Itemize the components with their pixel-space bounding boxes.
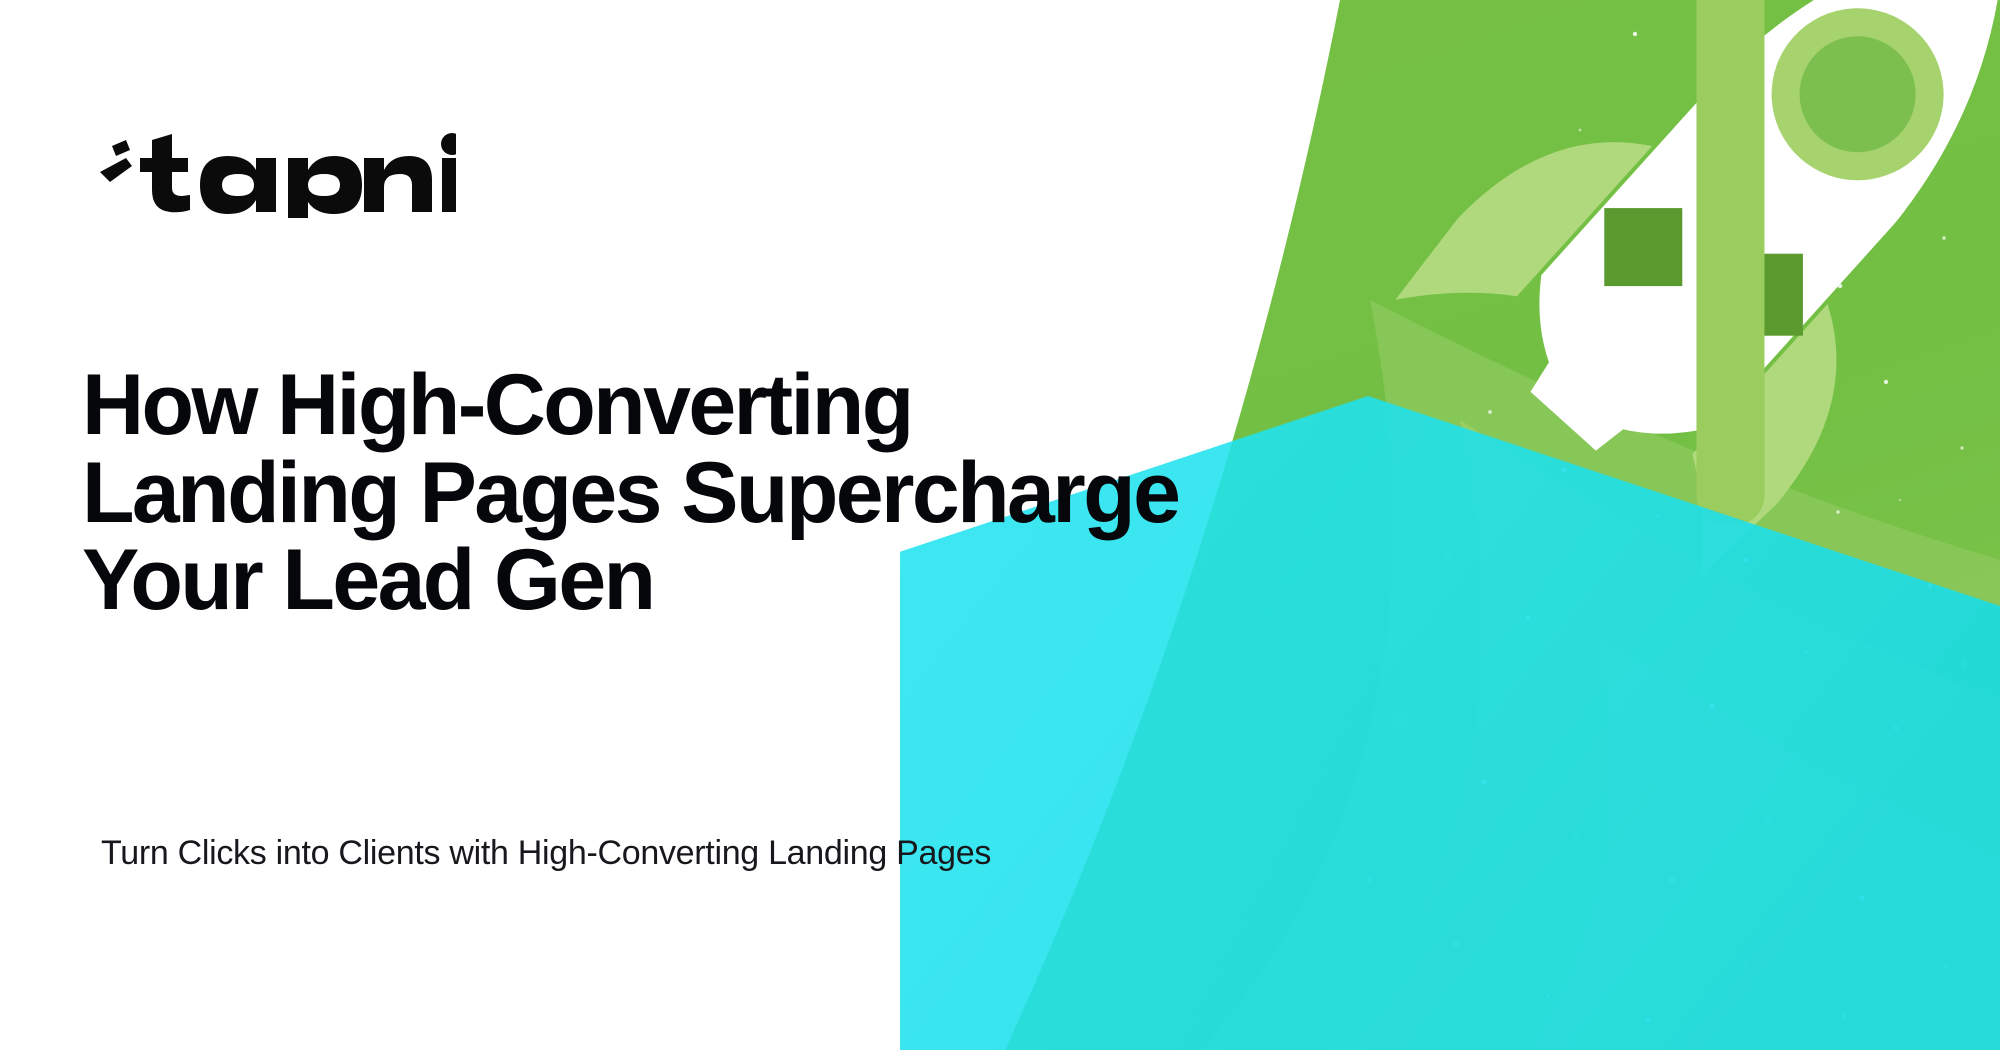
hero-banner: R How High-Converting Landing Pages Supe… bbox=[0, 0, 2000, 1050]
page-subtitle: Turn Clicks into Clients with High-Conve… bbox=[101, 826, 1041, 881]
tapni-wordmark-suffix-icon: R bbox=[364, 132, 456, 218]
tapni-logo[interactable]: R bbox=[96, 132, 456, 218]
page-title: How High-Converting Landing Pages Superc… bbox=[82, 362, 1262, 625]
tapni-wordmark-icon bbox=[96, 132, 366, 218]
